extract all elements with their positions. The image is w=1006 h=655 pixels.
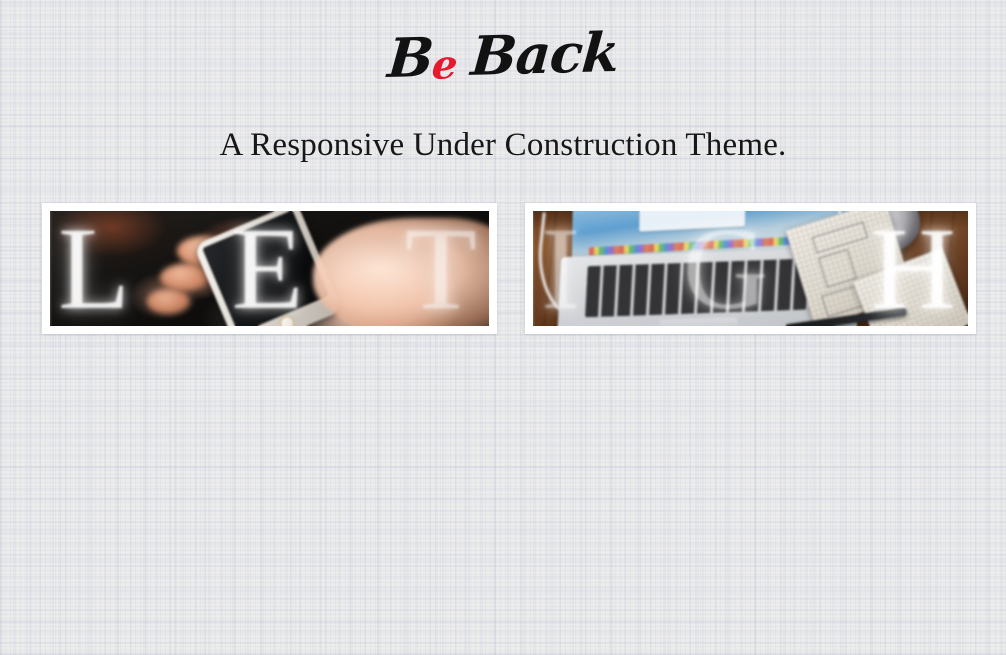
wireframe-box — [812, 222, 869, 254]
slide-item-1[interactable]: L E T — [42, 203, 497, 334]
site-logo[interactable]: BeBack — [0, 24, 1006, 96]
slide-2-photo-laptop-desk: I G H — [533, 211, 968, 326]
finger-shape — [160, 264, 208, 292]
overlay-letter: L — [58, 211, 134, 326]
site-logo-text: BeBack — [385, 21, 621, 95]
smartphone-screen — [202, 211, 329, 326]
laptop-trackpad — [659, 318, 738, 326]
slide-item-2[interactable]: I G H — [525, 203, 976, 334]
logo-accent-letter: e — [430, 41, 459, 89]
finger-shape — [147, 289, 191, 314]
wireframe-box — [818, 250, 857, 288]
logo-part-before: B — [385, 25, 435, 90]
page-tagline: A Responsive Under Construction Theme. — [0, 124, 1006, 166]
image-slider: L E T — [0, 203, 1006, 335]
slide-1-photo-hand-with-smartphone: L E T — [50, 211, 489, 326]
under-construction-page: BeBack A Responsive Under Construction T… — [0, 0, 1006, 655]
logo-part-after: Back — [469, 20, 621, 88]
hand-shape — [313, 218, 489, 326]
laptop-window — [639, 211, 745, 232]
